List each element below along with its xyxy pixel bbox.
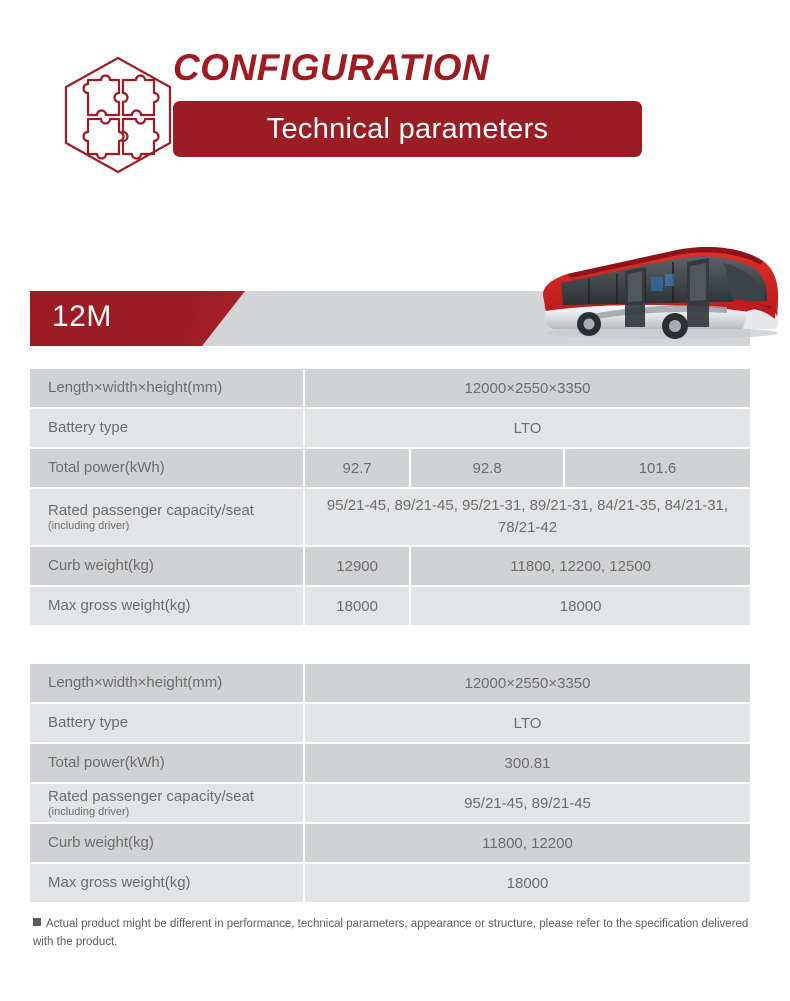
model-label: 12M <box>52 300 112 334</box>
row-label-subnote: (including driver) <box>48 806 303 819</box>
table-row: Battery typeLTO <box>30 704 750 744</box>
technical-parameters-bar: Technical parameters <box>173 101 642 157</box>
spec-table-2: Length×width×height(mm)12000×2550×3350Ba… <box>30 664 750 904</box>
row-value: 18000 <box>411 587 750 627</box>
spec-table-2-body: Length×width×height(mm)12000×2550×3350Ba… <box>30 664 750 904</box>
row-value: 11800, 12200, 12500 <box>411 547 750 587</box>
row-value: 12000×2550×3350 <box>305 664 750 704</box>
header-title-block: CONFIGURATION Technical parameters <box>173 46 642 157</box>
row-value: 101.6 <box>565 449 750 489</box>
row-label: Curb weight(kg) <box>30 824 305 864</box>
row-label-subnote: (including driver) <box>48 520 303 533</box>
table-row: Total power(kWh)92.792.8101.6 <box>30 449 750 489</box>
row-label: Battery type <box>30 409 305 449</box>
puzzle-hexagon-icon <box>57 54 179 176</box>
row-label: Rated passenger capacity/seat(including … <box>30 784 305 824</box>
table-row: Max gross weight(kg)1800018000 <box>30 587 750 627</box>
row-label: Total power(kWh) <box>30 449 305 489</box>
table-row: Length×width×height(mm)12000×2550×3350 <box>30 664 750 704</box>
footnote: Actual product might be different in per… <box>33 916 753 952</box>
row-label: Length×width×height(mm) <box>30 664 305 704</box>
row-value: LTO <box>305 409 750 449</box>
table-row: Length×width×height(mm)12000×2550×3350 <box>30 369 750 409</box>
row-value: 18000 <box>305 864 750 904</box>
row-value: 12000×2550×3350 <box>305 369 750 409</box>
square-bullet-icon <box>33 918 41 926</box>
row-value: 92.8 <box>411 449 565 489</box>
row-label: Max gross weight(kg) <box>30 587 305 627</box>
row-value: 12900 <box>305 547 411 587</box>
row-label: Battery type <box>30 704 305 744</box>
table-row: Curb weight(kg)11800, 12200 <box>30 824 750 864</box>
table-row: Battery typeLTO <box>30 409 750 449</box>
row-value: 18000 <box>305 587 411 627</box>
row-label: Rated passenger capacity/seat(including … <box>30 489 305 547</box>
row-value: 92.7 <box>305 449 411 489</box>
table-row: Total power(kWh)300.81 <box>30 744 750 784</box>
spec-table-1: Length×width×height(mm)12000×2550×3350Ba… <box>30 369 750 627</box>
page-title: CONFIGURATION <box>173 46 642 90</box>
row-value: 95/21-45, 89/21-45, 95/21-31, 89/21-31, … <box>305 489 750 547</box>
page-header: CONFIGURATION Technical parameters <box>0 46 790 186</box>
model-banner: 12M <box>30 291 750 346</box>
footnote-text: Actual product might be different in per… <box>33 918 748 948</box>
row-value: 11800, 12200 <box>305 824 750 864</box>
row-label: Max gross weight(kg) <box>30 864 305 904</box>
row-label: Curb weight(kg) <box>30 547 305 587</box>
table-row: Curb weight(kg)1290011800, 12200, 12500 <box>30 547 750 587</box>
row-value: 95/21-45, 89/21-45 <box>305 784 750 824</box>
row-value: 300.81 <box>305 744 750 784</box>
table-row: Rated passenger capacity/seat(including … <box>30 489 750 547</box>
table-row: Rated passenger capacity/seat(including … <box>30 784 750 824</box>
spec-table-1-body: Length×width×height(mm)12000×2550×3350Ba… <box>30 369 750 627</box>
row-value: LTO <box>305 704 750 744</box>
row-label: Length×width×height(mm) <box>30 369 305 409</box>
configuration-page: CONFIGURATION Technical parameters 12M <box>0 0 790 1001</box>
table-row: Max gross weight(kg)18000 <box>30 864 750 904</box>
row-label: Total power(kWh) <box>30 744 305 784</box>
technical-parameters-label: Technical parameters <box>267 113 549 146</box>
electric-city-bus-photo <box>527 241 789 346</box>
